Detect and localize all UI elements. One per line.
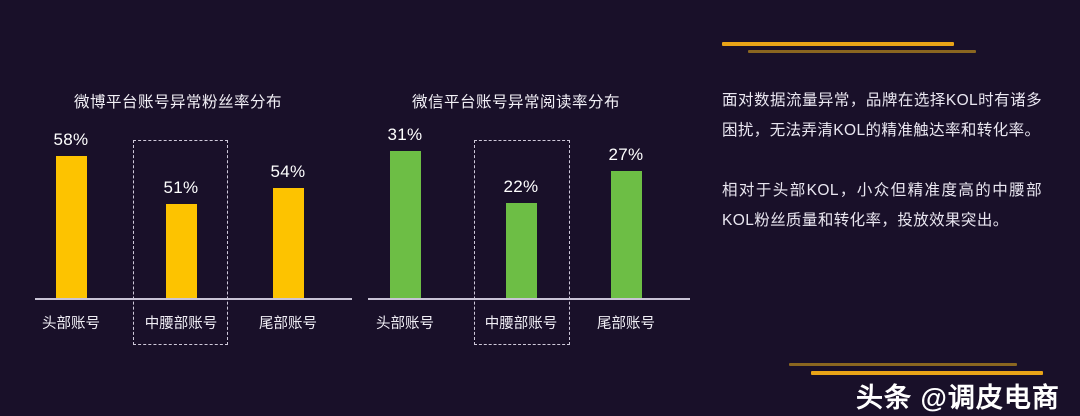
chart-weibo-bar-1[interactable] — [166, 204, 197, 298]
chart-weibo-category-2: 尾部账号 — [238, 312, 338, 333]
decor-gold-rule-bottom-bright — [811, 371, 1043, 375]
chart-wechat-bar-2[interactable] — [611, 171, 642, 298]
chart-wechat-value-0: 31% — [388, 125, 423, 145]
chart-wechat-category-0: 头部账号 — [355, 312, 455, 333]
watermark-toutiao: 头条 @调皮电商 — [856, 376, 1060, 415]
charts-region: 微博平台账号异常粉丝率分布 58% 51% 54% — [0, 0, 700, 416]
decor-gold-rule-top-dim — [748, 50, 976, 53]
chart-wechat: 微信平台账号异常阅读率分布 31% 22% 27% — [340, 0, 690, 416]
chart-weibo: 微博平台账号异常粉丝率分布 58% 51% 54% — [0, 0, 350, 416]
chart-wechat-bar-slot-1[interactable]: 22% — [486, 0, 556, 298]
chart-wechat-value-2: 27% — [609, 145, 644, 165]
chart-weibo-bar-slot-1[interactable]: 51% — [146, 0, 216, 298]
chart-weibo-value-2: 54% — [271, 162, 306, 182]
chart-weibo-axis-line — [35, 298, 352, 300]
decor-gold-rule-bottom-dim — [789, 363, 1017, 366]
chart-wechat-bar-slot-2[interactable]: 27% — [591, 0, 661, 298]
chart-wechat-bar-slot-0[interactable]: 31% — [370, 0, 440, 298]
commentary-paragraph-1: 面对数据流量异常，品牌在选择KOL时有诸多困扰，无法弄清KOL的精准触达率和转化… — [722, 86, 1042, 146]
chart-wechat-category-2: 尾部账号 — [576, 312, 676, 333]
chart-weibo-value-1: 51% — [164, 178, 199, 198]
chart-wechat-category-1: 中腰部账号 — [471, 312, 571, 333]
chart-weibo-bar-slot-2[interactable]: 54% — [253, 0, 323, 298]
chart-weibo-bar-0[interactable] — [56, 156, 87, 298]
chart-weibo-plot: 58% 51% 54% — [0, 0, 350, 298]
chart-weibo-bar-slot-0[interactable]: 58% — [36, 0, 106, 298]
chart-weibo-value-0: 58% — [54, 130, 89, 150]
commentary-paragraph-2: 相对于头部KOL，小众但精准度高的中腰部KOL粉丝质量和转化率，投放效果突出。 — [722, 176, 1042, 236]
chart-weibo-bar-2[interactable] — [273, 188, 304, 298]
chart-weibo-category-0: 头部账号 — [21, 312, 121, 333]
chart-wechat-bar-0[interactable] — [390, 151, 421, 298]
commentary-panel: 面对数据流量异常，品牌在选择KOL时有诸多困扰，无法弄清KOL的精准触达率和转化… — [722, 86, 1042, 236]
chart-wechat-value-1: 22% — [504, 177, 539, 197]
chart-wechat-plot: 31% 22% 27% — [340, 0, 690, 298]
chart-wechat-bar-1[interactable] — [506, 203, 537, 298]
chart-wechat-axis-line — [368, 298, 690, 300]
chart-weibo-category-1: 中腰部账号 — [131, 312, 231, 333]
decor-gold-rule-top-bright — [722, 42, 954, 46]
